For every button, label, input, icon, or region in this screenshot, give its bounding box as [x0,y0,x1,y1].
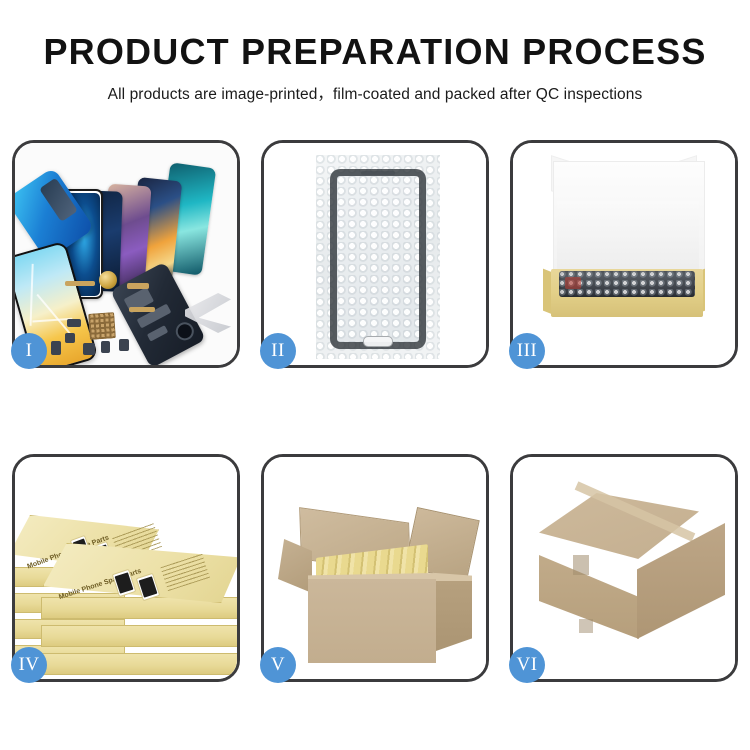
screw-tray [88,312,116,340]
step-4-image: Mobile Phone Spare Parts Mobile Phone Sp… [15,457,237,679]
step-badge-4: IV [11,647,47,683]
small-part-5 [119,339,129,351]
process-step-1: I [12,140,240,368]
foam-padding [557,201,699,273]
flex-cable-1 [65,281,95,286]
flex-cable-2 [127,283,149,289]
step-badge-5: V [260,647,296,683]
step-badge-3: III [509,333,545,369]
phones-and-parts-illustration [15,143,237,365]
step-2-image [264,143,486,365]
phone-glass-panel [330,169,426,349]
bubble-wrapped-screen-illustration [264,143,486,365]
step-5-image [264,457,486,679]
stack-box-r3 [41,653,237,675]
step-badge-1: I [11,333,47,369]
step-badge-6: VI [509,647,545,683]
small-part-2 [65,333,75,343]
sealed-carton-illustration [513,457,735,679]
process-step-3: III [510,140,738,368]
open-carton-illustration [264,457,486,679]
carton-seam-tab-bottom [579,619,593,633]
process-step-5: V [261,454,489,682]
step-6-image [513,457,735,679]
open-inner-box-illustration [513,143,735,365]
process-step-2: II [261,140,489,368]
product-preparation-poster: PRODUCT PREPARATION PROCESS All products… [0,0,750,750]
poster-header: PRODUCT PREPARATION PROCESS All products… [0,0,750,104]
step-badge-2: II [260,333,296,369]
page-subtitle: All products are image-printed，film-coat… [0,82,750,104]
page-title: PRODUCT PREPARATION PROCESS [0,34,750,70]
carton-seam-tab-top [573,555,589,575]
small-part-6 [51,341,61,355]
gold-coil-part [99,271,117,289]
step-3-image [513,143,735,365]
small-part-1 [67,319,81,327]
step-1-image [15,143,237,365]
stacked-boxes-illustration: Mobile Phone Spare Parts Mobile Phone Sp… [15,457,237,679]
small-part-3 [83,343,95,355]
process-step-4: Mobile Phone Spare Parts Mobile Phone Sp… [12,454,240,682]
packed-screen [559,271,695,297]
carton-front-panel [308,579,436,663]
carton-side-panel [436,581,472,651]
bubble-wrap-sheet [316,155,440,359]
process-step-grid: I II [12,140,738,682]
stack-box-r2 [41,625,237,647]
small-part-4 [101,341,110,353]
box-stack: Mobile Phone Spare Parts Mobile Phone Sp… [15,497,237,679]
process-step-6: VI [510,454,738,682]
flex-cable-3 [129,307,155,312]
